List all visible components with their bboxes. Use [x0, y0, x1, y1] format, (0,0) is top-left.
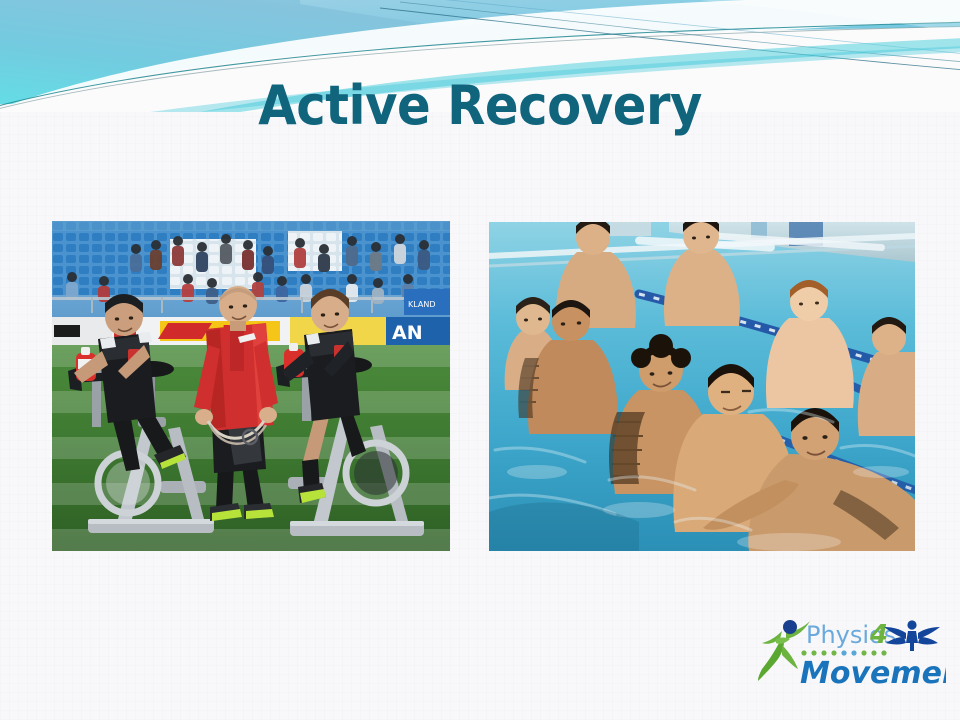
physios-4-movement-logo: Physios 4: [746, 615, 946, 693]
logo-dot-separator: [801, 650, 886, 655]
title-container: Active Recovery: [0, 76, 960, 135]
svg-text:AN: AN: [392, 322, 423, 344]
page-title: Active Recovery: [258, 76, 702, 135]
presentation-slide: Active Recovery: [0, 0, 960, 720]
logo-numeral-four: 4: [869, 620, 888, 650]
cycling-recovery-photo: DHL AN KLAND: [52, 221, 450, 551]
svg-text:4: 4: [869, 620, 888, 650]
pool-recovery-photo: [489, 222, 915, 551]
logo-movement-text: Movement: [800, 656, 946, 691]
svg-text:KLAND: KLAND: [408, 300, 436, 309]
